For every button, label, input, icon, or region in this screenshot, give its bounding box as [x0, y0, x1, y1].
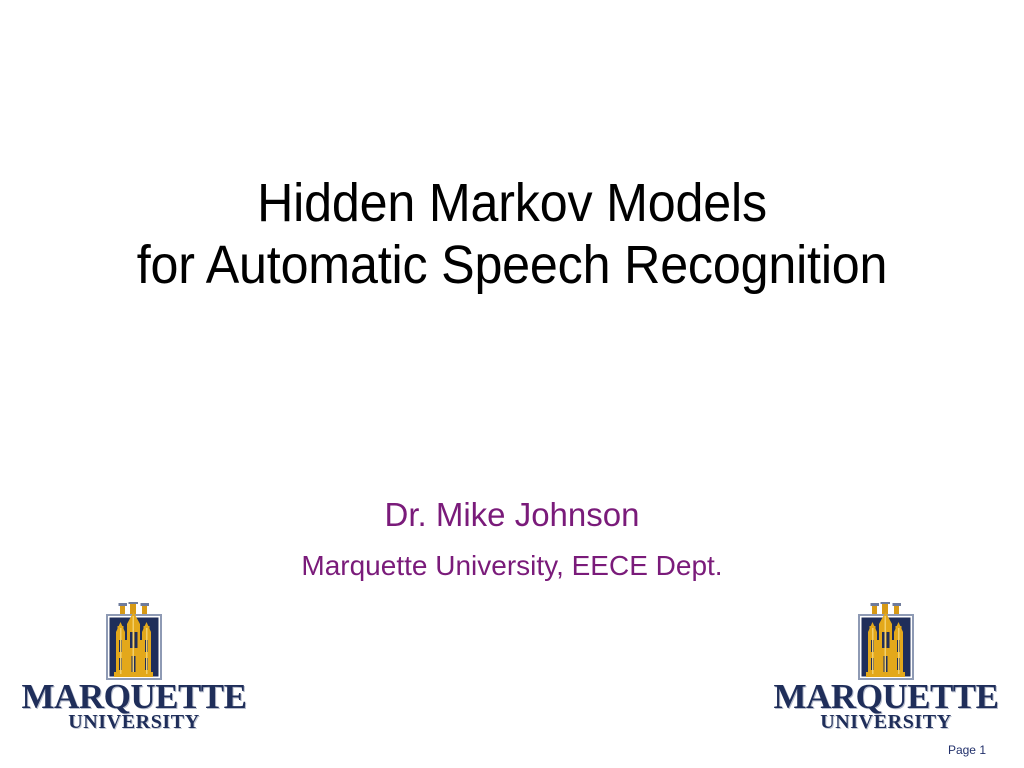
slide-title: Hidden Markov Models for Automatic Speec… — [0, 172, 1024, 296]
title-line-2: for Automatic Speech Recognition — [36, 234, 988, 296]
slide-subtitle: Dr. Mike Johnson Marquette University, E… — [0, 494, 1024, 584]
marquette-crest-icon — [855, 602, 917, 682]
marquette-university-label: UNIVERSITY — [20, 712, 248, 732]
marquette-wordmark: MARQUETTE — [772, 680, 1000, 714]
page-number: Page 1 — [948, 743, 986, 757]
marquette-wordmark: MARQUETTE — [20, 680, 248, 714]
author-name: Dr. Mike Johnson — [0, 494, 1024, 536]
marquette-logo-left: MARQUETTE UNIVERSITY — [20, 602, 248, 732]
title-line-1: Hidden Markov Models — [36, 172, 988, 234]
author-affiliation: Marquette University, EECE Dept. — [0, 548, 1024, 584]
presentation-slide: Hidden Markov Models for Automatic Speec… — [0, 0, 1024, 768]
marquette-crest-icon — [103, 602, 165, 682]
marquette-university-label: UNIVERSITY — [772, 712, 1000, 732]
marquette-logo-right: MARQUETTE UNIVERSITY — [772, 602, 1000, 732]
